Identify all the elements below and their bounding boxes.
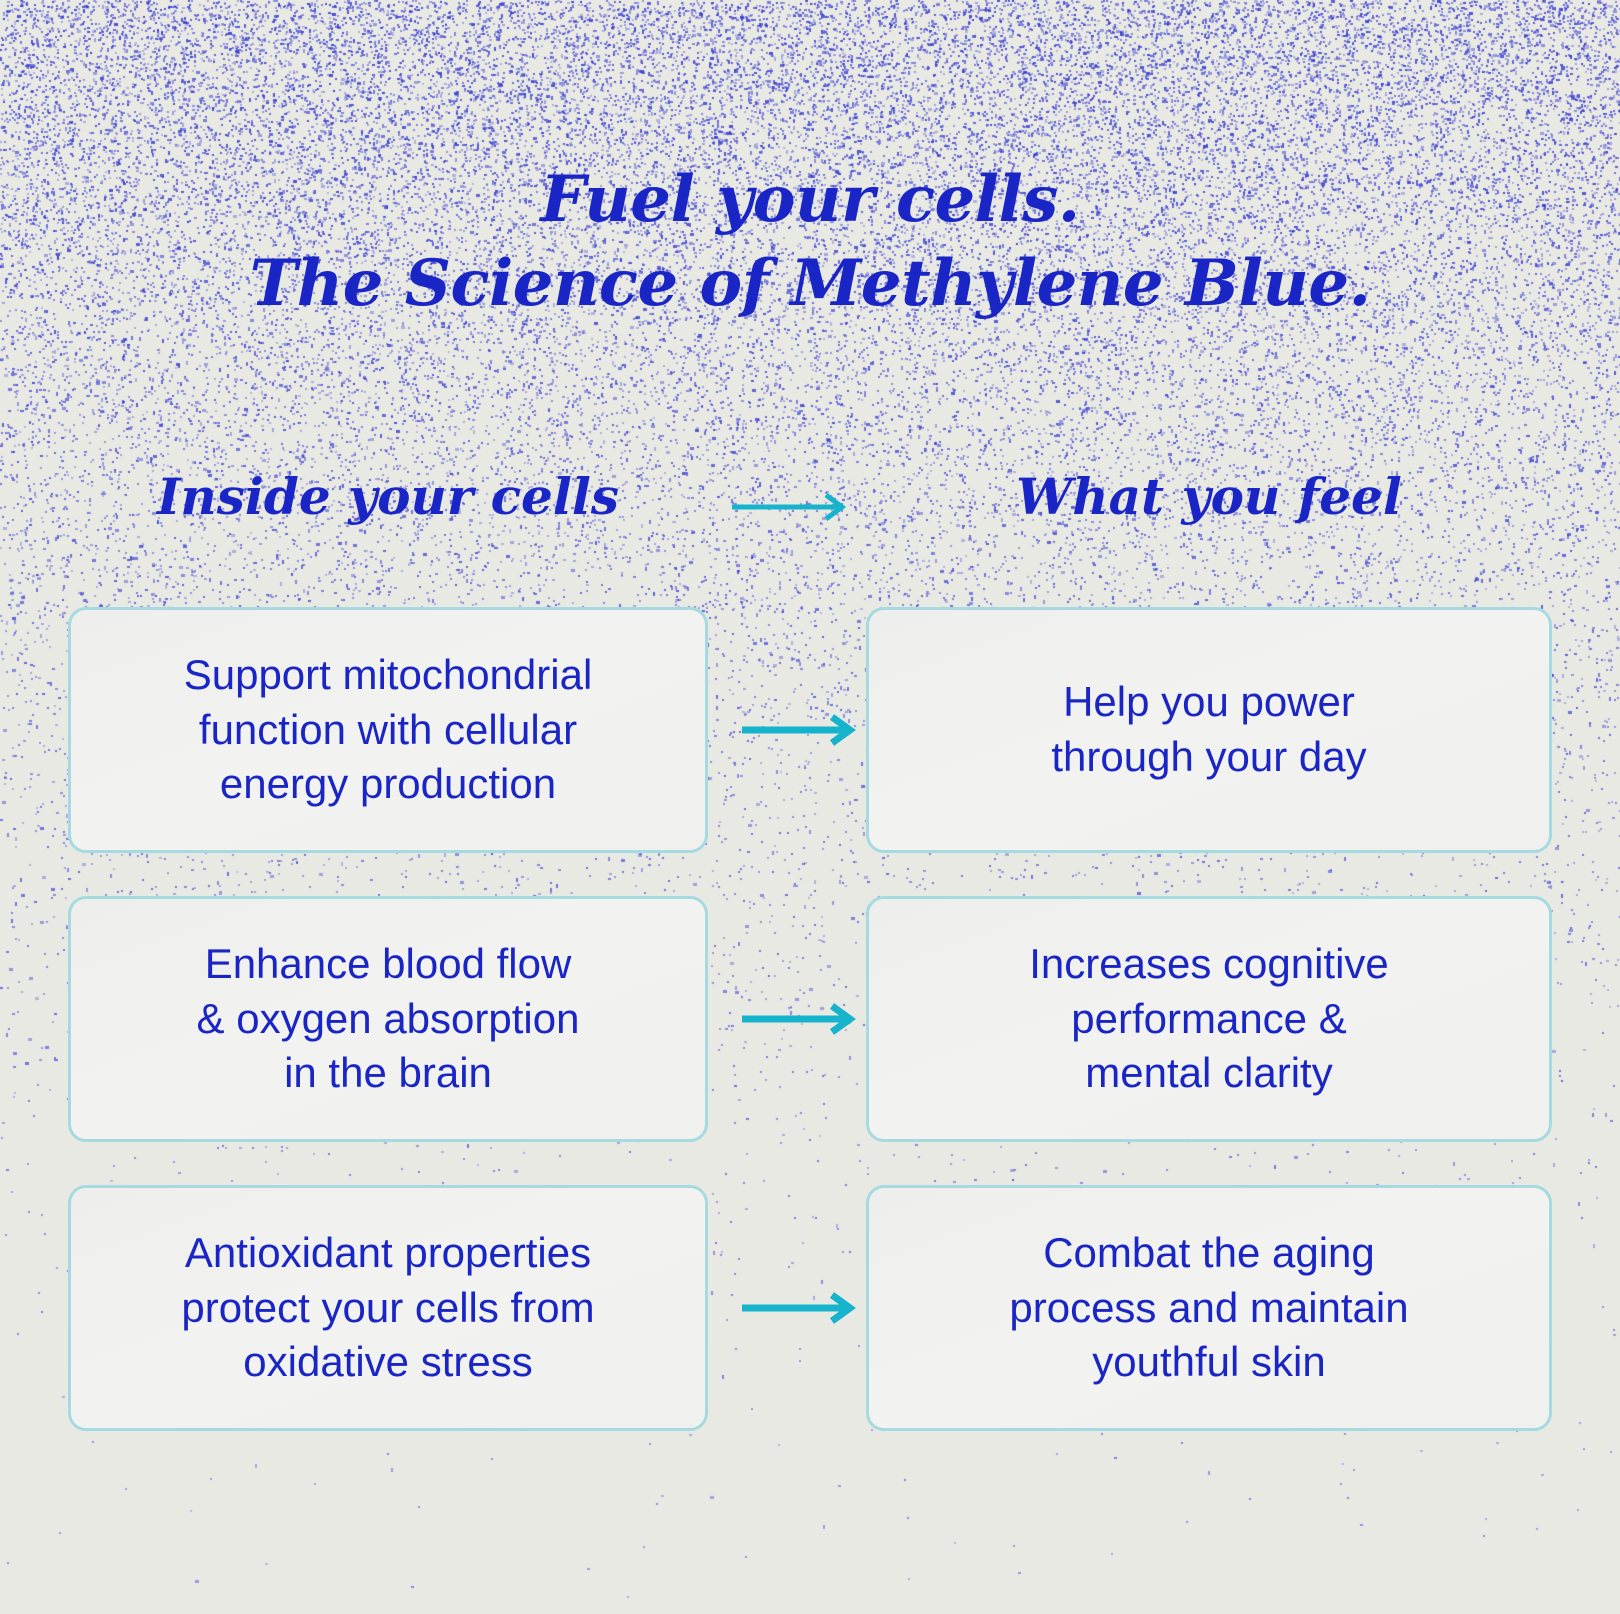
what-you-feel-card-1: Help you power through your day [866, 607, 1552, 853]
arrow-right-icon [740, 1004, 858, 1034]
inside-cells-card-2-text: Enhance blood flow & oxygen absorption i… [197, 937, 580, 1101]
benefit-row-1: Support mitochondrial function with cell… [0, 607, 1620, 853]
arrow-right-icon [730, 493, 850, 521]
infographic-canvas: Fuel your cells. The Science of Methylen… [0, 0, 1620, 1614]
benefit-row-2: Enhance blood flow & oxygen absorption i… [0, 896, 1620, 1142]
what-you-feel-card-3: Combat the aging process and maintain yo… [866, 1185, 1552, 1431]
title-line-1: Fuel your cells. [0, 158, 1620, 242]
what-you-feel-card-3-text: Combat the aging process and maintain yo… [1009, 1226, 1408, 1390]
inside-cells-card-3-text: Antioxidant properties protect your cell… [181, 1226, 594, 1390]
column-header-what-you-feel: What you feel [866, 467, 1552, 526]
benefit-row-3: Antioxidant properties protect your cell… [0, 1185, 1620, 1431]
inside-cells-card-1: Support mitochondrial function with cell… [68, 607, 708, 853]
what-you-feel-card-2-text: Increases cognitive performance & mental… [1029, 937, 1389, 1101]
arrow-right-icon [740, 715, 858, 745]
what-you-feel-card-2: Increases cognitive performance & mental… [866, 896, 1552, 1142]
page-title: Fuel your cells. The Science of Methylen… [0, 158, 1620, 327]
inside-cells-card-3: Antioxidant properties protect your cell… [68, 1185, 708, 1431]
inside-cells-card-2: Enhance blood flow & oxygen absorption i… [68, 896, 708, 1142]
column-headers: Inside your cells What you feel [0, 455, 1620, 543]
column-header-inside-your-cells: Inside your cells [68, 467, 708, 526]
what-you-feel-card-1-text: Help you power through your day [1051, 675, 1366, 784]
inside-cells-card-1-text: Support mitochondrial function with cell… [184, 648, 593, 812]
title-line-2: The Science of Methylene Blue. [0, 242, 1620, 326]
arrow-right-icon [740, 1293, 858, 1323]
